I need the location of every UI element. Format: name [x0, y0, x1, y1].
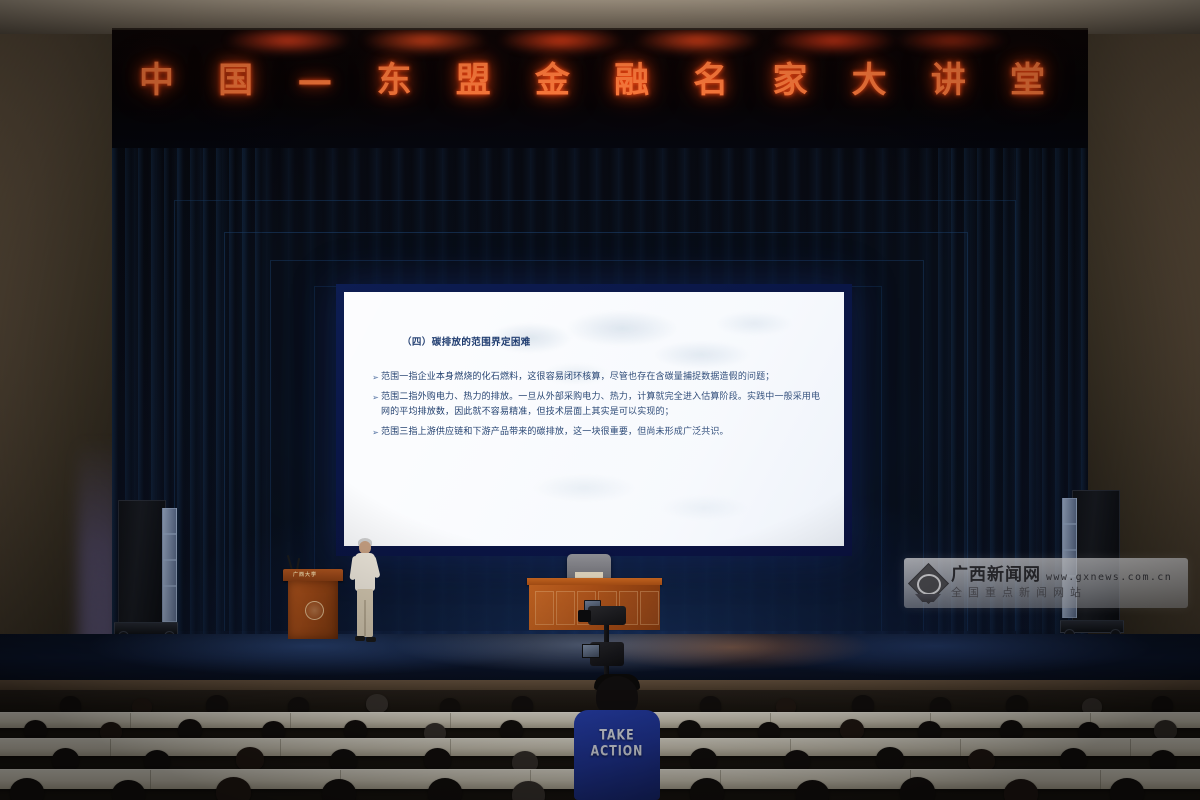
speaker-cabinet: [118, 500, 166, 624]
seat-divider: [1100, 770, 1101, 789]
university-seal-icon: [305, 601, 324, 620]
seat-divider: [150, 770, 151, 789]
audience-head: [428, 778, 462, 800]
audience-head: [366, 694, 388, 713]
slide-title: （四）碳排放的范围界定困难: [402, 334, 531, 348]
seat-divider: [280, 739, 281, 756]
audience-head: [178, 719, 202, 740]
bullet-arrow-icon: ➢: [370, 370, 381, 385]
audience-head: [52, 748, 79, 771]
seat-divider: [290, 713, 291, 728]
led-bottom-fade: [112, 104, 1088, 150]
camera-lens-icon: [578, 610, 591, 622]
audience-head: [1000, 720, 1023, 740]
pa-speaker-stack-left: [118, 500, 176, 640]
audience-head: [10, 778, 44, 800]
gxnews-logo-icon: [907, 562, 949, 604]
audience-head: [876, 747, 904, 771]
presenter-leg-gap: [364, 600, 366, 636]
watermark-brand: 广西新闻网: [951, 565, 1041, 585]
logo-inner-glyph: [917, 574, 941, 595]
slide-bullet-text: 范围三指上游供应链和下游产品带来的碳排放，这一块很重要，但尚未形成广泛共识。: [381, 425, 824, 441]
table-panel-inset: [640, 591, 659, 625]
audience-head: [236, 747, 264, 771]
podium-top-surface: 广西大学: [283, 569, 343, 581]
podium-institution-label: 广西大学: [293, 571, 317, 578]
audience-head: [900, 777, 935, 800]
handheld-camera: [590, 642, 624, 666]
audience-head: [322, 779, 356, 800]
seat-divider: [130, 713, 131, 728]
auditorium-photo: 中 国 — 东 盟 金 融 名 家 大 讲 堂 （四）碳排放的范围界定困难 ➢ …: [0, 0, 1200, 800]
tshirt-slogan-text: TAKE ACTION: [574, 727, 660, 760]
speaker-line-array-module: [1062, 498, 1077, 524]
audience-head: [690, 778, 724, 800]
logo-base-shape: [915, 594, 941, 602]
presentation-slide: （四）碳排放的范围界定困难 ➢ 范围一指企业本身燃烧的化石燃料，这很容易闭环核算…: [344, 292, 844, 546]
audience-head: [500, 720, 523, 740]
audience-head: [1154, 720, 1177, 740]
slide-bullet-text: 范围二指外购电力、热力的排放。一旦从外部采购电力、热力，计算就完全进入估算阶段。…: [381, 390, 824, 421]
slide-bullet-item: ➢ 范围二指外购电力、热力的排放。一旦从外部采购电力、热力，计算就完全进入估算阶…: [370, 390, 824, 421]
speaker-line-array-module: [1062, 524, 1077, 550]
table-panel-inset: [556, 591, 575, 625]
speaker-line-array-module: [162, 586, 177, 622]
slide-bullet-list: ➢ 范围一指企业本身燃烧的化石燃料，这很容易闭环核算，尽管也存在含碳量捕捉数据造…: [370, 370, 824, 444]
audience-head: [1060, 748, 1087, 771]
slide-bullet-item: ➢ 范围三指上游供应链和下游产品带来的碳排放，这一块很重要，但尚未形成广泛共识。: [370, 425, 824, 441]
podium-body: [288, 581, 338, 639]
seat-divider: [450, 713, 451, 728]
audience-head: [840, 719, 864, 740]
table-panel-inset: [535, 591, 554, 625]
lectern-podium: 广西大学: [283, 569, 343, 641]
audience-head: [1004, 779, 1038, 800]
seat-divider: [450, 739, 451, 756]
audience-head: [678, 720, 701, 740]
audience-camera-operator: TAKE ACTION: [574, 676, 660, 800]
news-site-watermark: 广西新闻网 www.gxnews.com.cn 全国重点新闻网站: [904, 558, 1188, 608]
audience-head: [112, 780, 145, 800]
audience-head: [690, 748, 717, 771]
slide-map-watermark-lower-icon: [494, 452, 794, 542]
seat-divider: [960, 739, 961, 756]
audience-head: [796, 780, 829, 800]
presenter-shoe: [355, 636, 365, 641]
table-top-surface: [527, 578, 662, 585]
camera-body: [588, 606, 626, 625]
watermark-primary-line: 广西新闻网 www.gxnews.com.cn: [951, 565, 1188, 585]
watermark-url: www.gxnews.com.cn: [1046, 572, 1172, 583]
watermark-text-block: 广西新闻网 www.gxnews.com.cn 全国重点新闻网站: [949, 565, 1188, 601]
presenter-shoe: [366, 637, 376, 642]
audience-head: [24, 720, 47, 740]
audience-head: [424, 748, 451, 771]
bullet-arrow-icon: ➢: [370, 390, 381, 405]
slide-bullet-text: 范围一指企业本身燃烧的化石燃料，这很容易闭环核算，尽管也存在含碳量捕捉数据造假的…: [381, 370, 824, 386]
watermark-tagline: 全国重点新闻网站: [951, 585, 1188, 601]
audience-head: [216, 777, 251, 800]
audience-head: [1110, 778, 1144, 800]
presenter-speaker: [348, 538, 382, 650]
speaker-line-array-module: [162, 508, 177, 534]
camera-flip-screen: [582, 644, 600, 658]
led-banner: 中 国 — 东 盟 金 融 名 家 大 讲 堂: [112, 30, 1088, 150]
seat-divider: [110, 739, 111, 756]
bullet-arrow-icon: ➢: [370, 425, 381, 440]
speaker-line-array-module: [162, 560, 177, 586]
led-banner-text: 中 国 — 东 盟 金 融 名 家 大 讲 堂: [112, 52, 1088, 103]
slide-bullet-item: ➢ 范围一指企业本身燃烧的化石燃料，这很容易闭环核算，尽管也存在含碳量捕捉数据造…: [370, 370, 824, 386]
seat-divider: [1130, 739, 1131, 756]
speaker-line-array-module: [162, 534, 177, 560]
audience-head: [344, 720, 367, 740]
projection-screen: （四）碳排放的范围界定困难 ➢ 范围一指企业本身燃烧的化石燃料，这很容易闭环核算…: [336, 284, 852, 556]
